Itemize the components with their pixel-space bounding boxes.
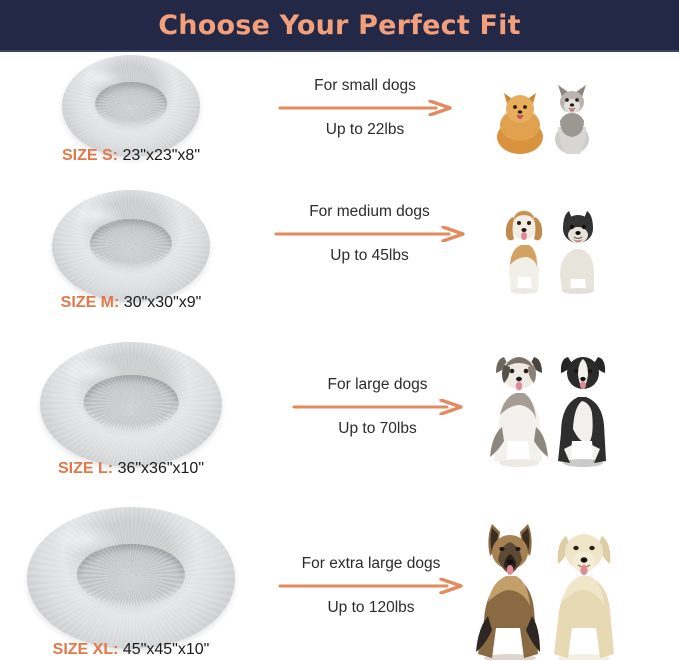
size-dimensions-xl: 45"x45"x10" (123, 641, 209, 658)
size-tag-m: SIZE M: (61, 294, 120, 311)
size-chart-rows: SIZE S: 23"x23"x8" For small dogs Up to … (0, 52, 679, 661)
dogs-cell-s (488, 77, 603, 155)
right-arrow-icon (278, 100, 453, 116)
size-row-s: SIZE S: 23"x23"x8" For small dogs Up to … (0, 52, 679, 182)
dogs-cell-l (478, 341, 618, 469)
dog-bed-image-m (52, 190, 210, 302)
german-shepherd-icon (476, 524, 540, 660)
size-tag-s: SIZE S: (62, 147, 118, 164)
dog-photo-german-shepherd-and-golden-retriever (462, 512, 634, 660)
australian-shepherd-icon (490, 357, 548, 467)
size-row-xl: SIZE XL: 45"x45"x10" For extra large dog… (0, 497, 679, 661)
size-dimensions-m: 30"x30"x9" (124, 294, 202, 311)
bed-cell-m (0, 182, 262, 337)
dog-photo-beagle-and-french-bulldog (487, 195, 607, 295)
size-label-m: SIZE M: 30"x30"x9" (0, 294, 262, 312)
dog-size-text-m: For medium dogs (262, 202, 477, 221)
dogs-cell-xl (462, 512, 634, 660)
weight-text-s: Up to 22lbs (265, 120, 465, 139)
bed-cell-xl (0, 497, 262, 661)
arrow-cell-m: For medium dogs Up to 45lbs (262, 202, 477, 266)
right-arrow-icon (274, 226, 466, 242)
dog-bed-image-s (62, 55, 200, 157)
dog-bed-image-xl (27, 507, 235, 649)
weight-text-m: Up to 45lbs (262, 246, 477, 265)
golden-retriever-icon (554, 534, 614, 660)
dog-size-text-xl: For extra large dogs (262, 554, 480, 573)
bed-highlight (71, 203, 125, 228)
size-label-l: SIZE L: 36"x36"x10" (0, 460, 262, 478)
size-label-xl: SIZE XL: 45"x45"x10" (0, 641, 262, 659)
bed-highlight (62, 357, 124, 385)
size-dimensions-l: 36"x36"x10" (118, 460, 204, 477)
weight-text-l: Up to 70lbs (280, 419, 475, 438)
bed-highlight (79, 67, 126, 89)
size-tag-l: SIZE L: (58, 460, 113, 477)
size-dimensions-s: 23"x23"x8" (122, 147, 200, 164)
dog-bed-image-l (40, 342, 222, 467)
pomeranian-icon (497, 93, 543, 155)
arrow-cell-s: For small dogs Up to 22lbs (265, 76, 465, 140)
beagle-icon (506, 210, 542, 294)
size-row-l: SIZE L: 36"x36"x10" For large dogs Up to… (0, 337, 679, 497)
size-tag-xl: SIZE XL: (53, 641, 119, 658)
size-row-m: SIZE M: 30"x30"x9" For medium dogs Up to… (0, 182, 679, 337)
arrow-cell-l: For large dogs Up to 70lbs (280, 375, 475, 439)
right-arrow-icon (278, 578, 464, 594)
page-header: Choose Your Perfect Fit (0, 0, 679, 52)
weight-text-xl: Up to 120lbs (262, 598, 480, 617)
french-bulldog-icon (560, 211, 594, 294)
dog-size-text-l: For large dogs (280, 375, 475, 394)
page-title: Choose Your Perfect Fit (158, 10, 520, 41)
dog-photo-australian-shepherd-and-border-collie (478, 341, 618, 469)
bed-highlight (52, 524, 123, 555)
right-arrow-icon (292, 399, 464, 415)
dog-size-text-s: For small dogs (265, 76, 465, 95)
border-collie-icon (558, 357, 606, 467)
size-label-s: SIZE S: 23"x23"x8" (0, 147, 262, 165)
dogs-cell-m (487, 195, 607, 295)
yorkshire-terrier-icon (555, 85, 589, 154)
dog-photo-pomeranian-and-yorkshire-terrier (488, 77, 603, 155)
arrow-cell-xl: For extra large dogs Up to 120lbs (262, 554, 480, 618)
